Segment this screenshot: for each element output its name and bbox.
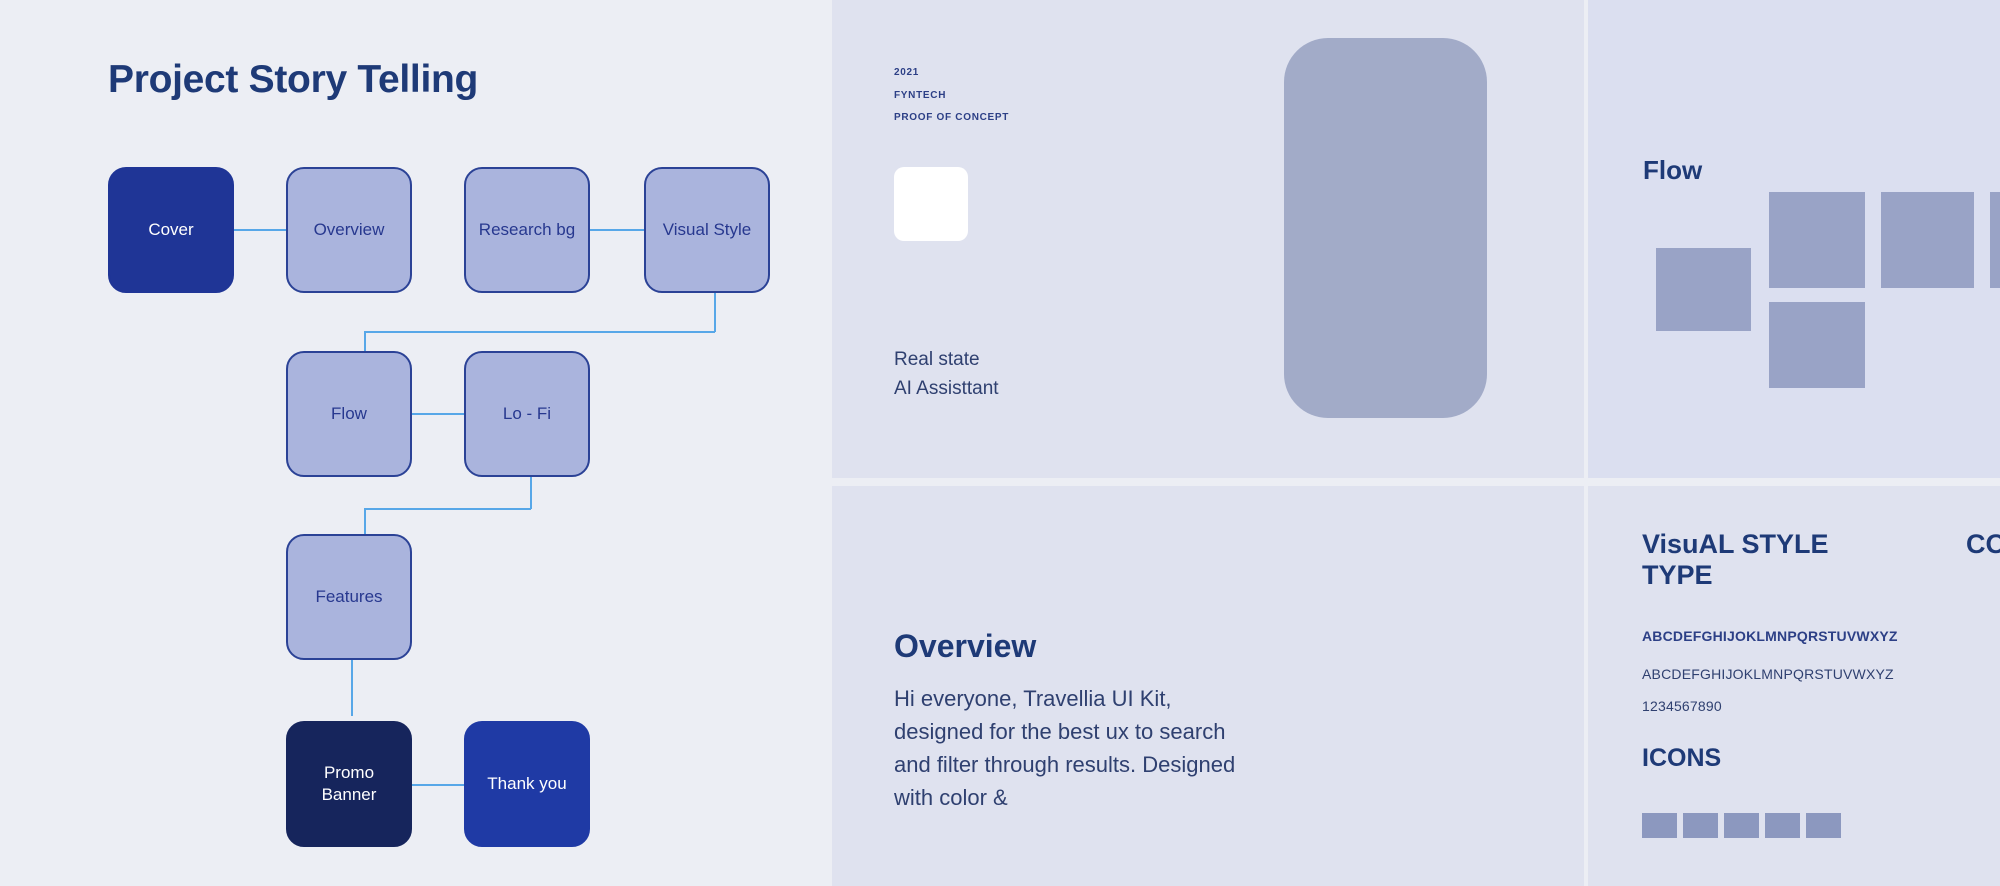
connector-visual-to-flow xyxy=(364,331,715,333)
cover-logo-card xyxy=(894,167,968,241)
cover-meta-block: 2021 FYNTECH PROOF OF CONCEPT xyxy=(894,62,1009,130)
type-specimen-regular: ABCDEFGHIJOKLMNPQRSTUVWXYZ xyxy=(1642,666,1894,682)
page-title: Project Story Telling xyxy=(108,58,478,102)
icon-placeholder[interactable] xyxy=(1806,813,1841,838)
wireframe-block xyxy=(1769,192,1865,288)
flow-node-label: Overview xyxy=(314,219,385,241)
cover-subtitle: PROOF OF CONCEPT xyxy=(894,107,1009,130)
wireframe-block xyxy=(1881,192,1974,288)
flow-node-label: Thank you xyxy=(487,773,566,795)
overview-preview-panel[interactable]: Overview Hi everyone, Travellia UI Kit, … xyxy=(832,486,1584,886)
connector-lofi-to-features xyxy=(364,508,531,510)
flow-node-label: Flow xyxy=(331,403,367,425)
connector-visual-down xyxy=(714,287,716,332)
flow-node-cover[interactable]: Cover xyxy=(108,167,234,293)
cover-year: 2021 xyxy=(894,62,1009,85)
connector-features-to-promo xyxy=(351,653,353,716)
cover-caption-line-2: AI Assisttant xyxy=(894,375,999,404)
overview-body-text: Hi everyone, Travellia UI Kit, designed … xyxy=(894,682,1254,814)
connector-research-visual xyxy=(590,229,644,231)
icon-placeholder[interactable] xyxy=(1724,813,1759,838)
flow-node-flow[interactable]: Flow xyxy=(286,351,412,477)
cover-caption: Real state AI Assisttant xyxy=(894,346,999,403)
flow-node-visual-style[interactable]: Visual Style xyxy=(644,167,770,293)
icons-section-title: ICONS xyxy=(1642,744,1721,773)
flow-node-label: Features xyxy=(315,586,382,608)
visual-style-panel[interactable]: VisuAL STYLE TYPE CO ABCDEFGHIJOKLMNPQRS… xyxy=(1588,486,2000,886)
colors-section-title: CO xyxy=(1966,529,2000,560)
phone-mockup xyxy=(1284,38,1487,418)
overview-title: Overview xyxy=(894,628,1036,665)
flow-node-label: Visual Style xyxy=(663,219,752,241)
visual-style-title: VisuAL STYLE TYPE xyxy=(1642,529,1892,591)
flow-chart-panel: Project Story Telling Cover Overview Res… xyxy=(0,0,832,886)
icon-placeholder[interactable] xyxy=(1765,813,1800,838)
type-specimen-bold: ABCDEFGHIJOKLMNPQRSTUVWXYZ xyxy=(1642,628,1898,644)
icon-placeholder[interactable] xyxy=(1642,813,1677,838)
wireframe-block xyxy=(1656,248,1751,331)
cover-caption-line-1: Real state xyxy=(894,346,999,375)
icon-placeholder[interactable] xyxy=(1683,813,1718,838)
flow-node-label: Research bg xyxy=(479,219,575,241)
connector-cover-overview xyxy=(234,229,286,231)
cover-preview-panel[interactable]: 2021 FYNTECH PROOF OF CONCEPT Real state… xyxy=(832,0,1584,478)
wireframe-block xyxy=(1769,302,1865,388)
flow-node-label: Promo Banner xyxy=(296,762,402,806)
type-specimen-numerals: 1234567890 xyxy=(1642,698,1722,714)
flow-node-lo-fi[interactable]: Lo - Fi xyxy=(464,351,590,477)
design-system-board: Project Story Telling Cover Overview Res… xyxy=(0,0,2000,886)
cover-brand: FYNTECH xyxy=(894,85,1009,108)
flow-wireframe-panel[interactable]: Flow xyxy=(1588,0,2000,478)
flow-node-research-bg[interactable]: Research bg xyxy=(464,167,590,293)
flow-node-overview[interactable]: Overview xyxy=(286,167,412,293)
flow-node-label: Cover xyxy=(148,219,193,241)
flow-node-features[interactable]: Features xyxy=(286,534,412,660)
connector-flow-lofi xyxy=(412,413,464,415)
flow-node-thank-you[interactable]: Thank you xyxy=(464,721,590,847)
flow-wireframe-title: Flow xyxy=(1643,155,1702,186)
connector-promo-thanks xyxy=(412,784,464,786)
flow-node-label: Lo - Fi xyxy=(503,403,551,425)
wireframe-block xyxy=(1990,192,2000,288)
flow-node-promo-banner[interactable]: Promo Banner xyxy=(286,721,412,847)
connector-down-to-features xyxy=(364,508,366,537)
